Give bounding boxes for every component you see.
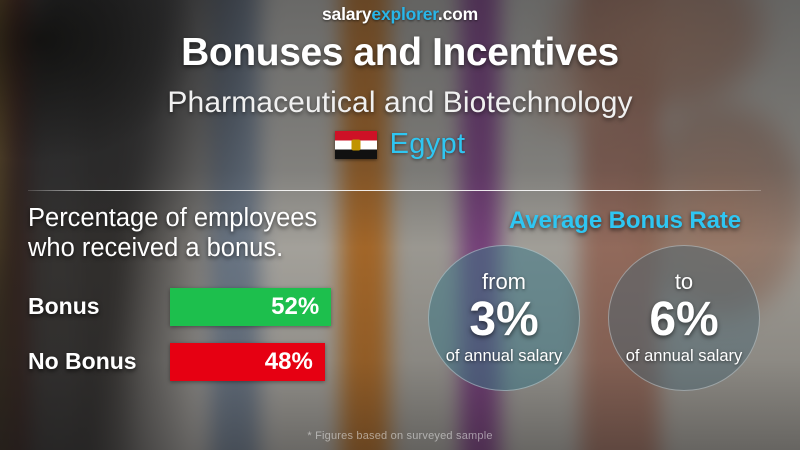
bar-value-no-bonus: 48% [265,348,313,376]
bonus-rate-to-suffix: of annual salary [626,346,743,366]
bar-no-bonus: 48% [170,343,325,381]
footnote: * Figures based on surveyed sample [0,430,800,442]
table-row: No Bonus 48% [28,343,428,381]
left-panel-heading: Percentage of employees who received a b… [28,203,448,263]
page-title: Bonuses and Incentives [0,31,800,75]
bonus-bar-chart: Bonus 52% No Bonus 48% [28,288,428,398]
logo-text-explorer: explorer [371,4,438,24]
left-panel-heading-line1: Percentage of employees [28,203,448,233]
country-row: Egypt [0,128,800,161]
egypt-flag-icon [335,131,377,159]
bonus-rate-from-value: 3% [469,294,538,346]
average-bonus-rate-title: Average Bonus Rate [470,207,780,235]
header-divider [28,190,761,191]
page-subtitle: Pharmaceutical and Biotechnology [0,86,800,120]
bonus-rate-to-prefix: to [675,270,693,294]
bonus-rate-to-value: 6% [649,294,718,346]
logo-text-salary: salary [322,4,371,24]
logo-text-tld: .com [438,4,478,24]
site-logo[interactable]: salaryexplorer.com [0,4,800,25]
bar-label-no-bonus: No Bonus [28,348,137,375]
bonus-rate-from-suffix: of annual salary [446,346,563,366]
eagle-emblem-icon [351,139,360,150]
bar-value-bonus: 52% [271,293,319,321]
bonus-rate-to-circle: to 6% of annual salary [608,245,760,391]
country-name: Egypt [390,128,466,161]
bonus-rate-from-circle: from 3% of annual salary [428,245,580,391]
bar-bonus: 52% [170,288,331,326]
infographic-content: salaryexplorer.com Bonuses and Incentive… [0,0,800,450]
bonus-rate-from-prefix: from [482,270,526,294]
left-panel-heading-line2: who received a bonus. [28,233,448,263]
table-row: Bonus 52% [28,288,428,326]
bar-label-bonus: Bonus [28,293,100,320]
